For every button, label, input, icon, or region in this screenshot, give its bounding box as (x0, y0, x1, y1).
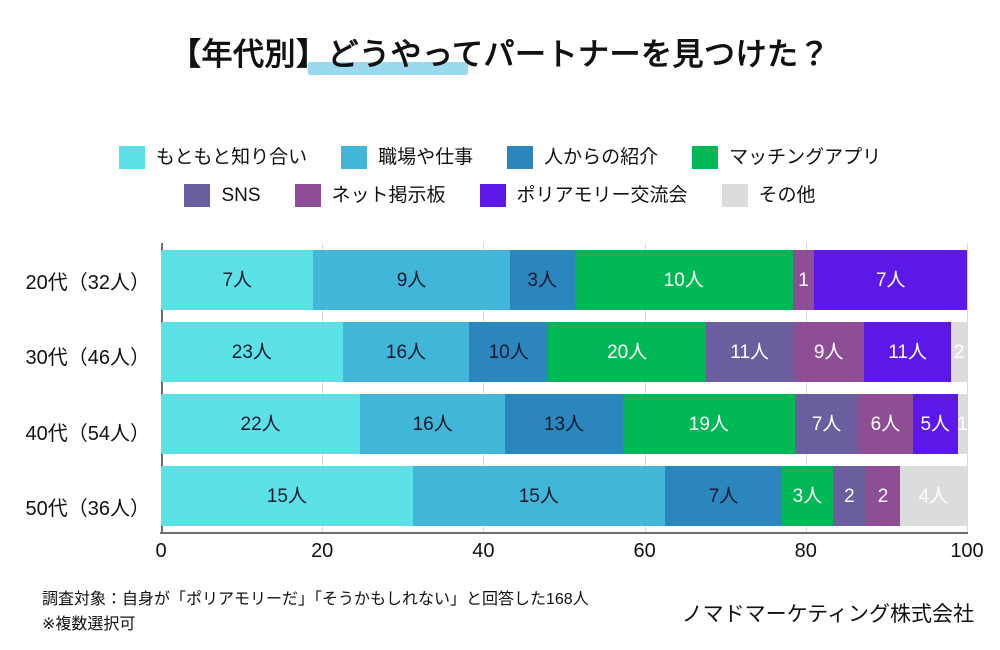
x-axis-tick-label: 60 (633, 540, 655, 563)
x-axis-line (160, 532, 968, 534)
bar-segment[interactable]: 20人 (548, 322, 706, 382)
bar-segment[interactable]: 2 (866, 466, 900, 526)
bar-segment[interactable]: 15人 (413, 466, 665, 526)
legend-label: 職場や仕事 (378, 148, 473, 167)
bar-segment[interactable]: 16人 (343, 322, 469, 382)
legend-swatch-icon (119, 146, 145, 169)
bar-segment[interactable]: 10人 (469, 322, 548, 382)
bar-segment[interactable]: 11人 (706, 322, 793, 382)
bar-row: 7人9人3人10人17人 (161, 250, 967, 310)
page-title-wrap: 【年代別】どうやってパートナーを見つけた？ (0, 36, 1000, 73)
bar-segment[interactable]: 7人 (795, 394, 858, 454)
bar-segment[interactable]: 13人 (505, 394, 623, 454)
bar-segment[interactable]: 1 (793, 250, 815, 310)
bar-segment[interactable]: 6人 (858, 394, 912, 454)
legend-item-acquaintance[interactable]: もともと知り合い (119, 146, 307, 169)
legend-label: SNS (221, 186, 260, 205)
bar-segment[interactable]: 4人 (900, 466, 967, 526)
bar-segment[interactable]: 19人 (623, 394, 795, 454)
company-credit: ノマドマーケティング株式会社 (682, 598, 974, 628)
bar-segment[interactable]: 23人 (161, 322, 343, 382)
bar-segment[interactable]: 9人 (793, 322, 864, 382)
page-title-text: 【年代別】どうやってパートナーを見つけた？ (170, 37, 830, 72)
page-title: 【年代別】どうやってパートナーを見つけた？ (170, 36, 830, 73)
legend-swatch-icon (480, 184, 506, 207)
bar-segment[interactable]: 7人 (161, 250, 313, 310)
footnote-line-2: ※複数選択可 (42, 613, 589, 638)
bar-rows: 7人9人3人10人17人23人16人10人20人11人9人11人222人16人1… (161, 243, 967, 532)
bar-segment[interactable]: 7人 (814, 250, 966, 310)
stacked-bar-chart: 7人9人3人10人17人23人16人10人20人11人9人11人222人16人1… (0, 243, 1000, 543)
x-axis-tick-label: 80 (795, 540, 817, 563)
plot-area: 7人9人3人10人17人23人16人10人20人11人9人11人222人16人1… (161, 243, 967, 532)
legend-row-2: SNS ネット掲示板 ポリアモリー交流会 その他 (0, 180, 1000, 210)
x-axis-tick-label: 100 (950, 540, 983, 563)
bar-segment[interactable]: 7人 (665, 466, 783, 526)
legend-item-work[interactable]: 職場や仕事 (341, 146, 473, 169)
bar-segment[interactable]: 2 (951, 322, 967, 382)
bar-segment[interactable]: 15人 (161, 466, 413, 526)
x-axis-tick-label: 40 (472, 540, 494, 563)
bar-row: 22人16人13人19人7人6人5人1 (161, 394, 967, 454)
bar-row: 15人15人7人3人224人 (161, 466, 967, 526)
bar-segment[interactable]: 3人 (782, 466, 832, 526)
x-axis: 020406080100 (161, 532, 967, 572)
legend-item-other[interactable]: その他 (722, 184, 816, 207)
legend-label: 人からの紹介 (544, 148, 658, 167)
legend-label: その他 (759, 186, 816, 205)
legend-swatch-icon (722, 184, 748, 207)
legend-swatch-icon (341, 146, 367, 169)
legend-item-sns[interactable]: SNS (184, 184, 260, 207)
legend-label: もともと知り合い (156, 148, 307, 167)
bar-row: 23人16人10人20人11人9人11人2 (161, 322, 967, 382)
legend-label: マッチングアプリ (729, 148, 881, 167)
legend-label: ネット掲示板 (332, 186, 446, 205)
gridline (967, 243, 968, 532)
bar-segment[interactable]: 1 (958, 394, 967, 454)
bar-segment[interactable]: 5人 (913, 394, 958, 454)
chart-legend: もともと知り合い 職場や仕事 人からの紹介 マッチングアプリ SNS ネット掲示… (0, 142, 1000, 218)
bar-segment[interactable]: 3人 (510, 250, 575, 310)
legend-swatch-icon (507, 146, 533, 169)
footnote: 調査対象：自身が「ポリアモリーだ」「そうかもしれない」と回答した168人 ※複数… (42, 588, 589, 638)
x-axis-tick-label: 0 (155, 540, 166, 563)
x-axis-tick-label: 20 (311, 540, 333, 563)
bar-segment[interactable]: 16人 (360, 394, 505, 454)
legend-label: ポリアモリー交流会 (517, 186, 688, 205)
legend-row-1: もともと知り合い 職場や仕事 人からの紹介 マッチングアプリ (0, 142, 1000, 172)
legend-item-polyamory-meetup[interactable]: ポリアモリー交流会 (480, 184, 688, 207)
bar-segment[interactable]: 22人 (161, 394, 360, 454)
legend-swatch-icon (184, 184, 210, 207)
legend-swatch-icon (692, 146, 718, 169)
legend-item-bbs[interactable]: ネット掲示板 (295, 184, 446, 207)
footnote-line-1: 調査対象：自身が「ポリアモリーだ」「そうかもしれない」と回答した168人 (42, 588, 589, 613)
bar-segment[interactable]: 11人 (864, 322, 951, 382)
bar-segment[interactable]: 2 (833, 466, 867, 526)
bar-segment[interactable]: 10人 (575, 250, 793, 310)
bar-segment[interactable]: 9人 (313, 250, 509, 310)
legend-swatch-icon (295, 184, 321, 207)
legend-item-matching-app[interactable]: マッチングアプリ (692, 146, 881, 169)
legend-item-introduction[interactable]: 人からの紹介 (507, 146, 658, 169)
